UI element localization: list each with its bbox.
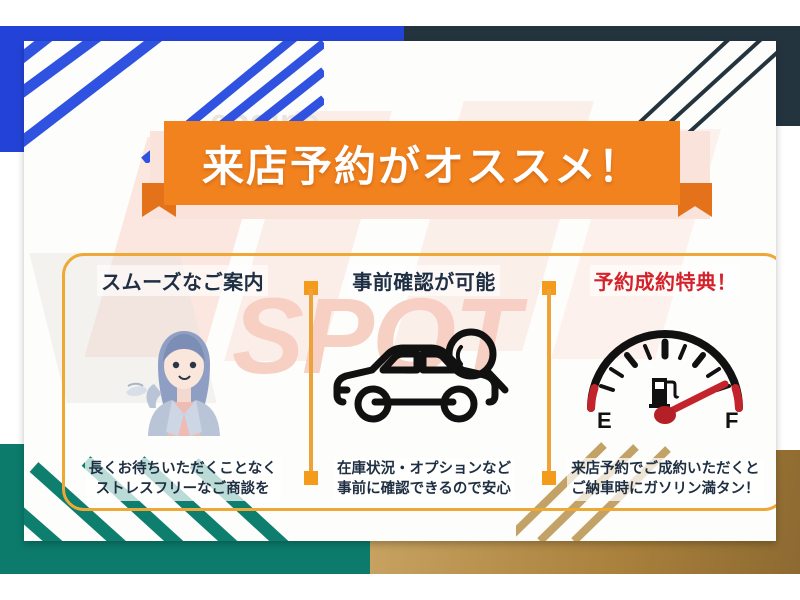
feature-body: 長くお待ちいただくことなく ストレスフリーなご商談を <box>85 458 281 501</box>
gauge-label-empty: E <box>597 408 612 432</box>
divider-bar <box>547 289 551 477</box>
banner-card: engine SPOT <box>24 41 776 541</box>
feature-column-bonus: 予約成約特典！ <box>545 253 776 511</box>
divider-bar <box>309 289 313 477</box>
page-title: 来店予約がオススメ！ <box>142 121 702 205</box>
feature-body-line2: ご納車時にガソリン満タン！ <box>571 479 760 500</box>
feature-body-line1: 来店予約でご成約いただくと <box>571 459 760 480</box>
feature-body: 在庫状況・オプションなど 事前に確認できるので安心 <box>333 458 515 501</box>
feature-body: 来店予約でご成約いただくと ご納車時にガソリン満タン！ <box>567 458 764 501</box>
feature-body-line2: ストレスフリーなご商談を <box>89 479 277 500</box>
feature-title: 事前確認が可能 <box>348 265 500 296</box>
promo-banner: engine SPOT <box>0 26 800 574</box>
headline-ribbon: 来店予約がオススメ！ <box>142 121 712 221</box>
column-divider-2 <box>542 277 556 489</box>
divider-cap-bottom <box>542 471 556 485</box>
feature-column-precheck: 事前確認が可能 <box>303 253 544 511</box>
gauge-label-full: F <box>725 408 738 432</box>
feature-body-line1: 長くお待ちいただくことなく <box>89 459 277 480</box>
screenshot-stage: engine SPOT <box>0 0 800 600</box>
fuel-gauge-icon: E F <box>575 322 755 432</box>
fuel-gauge-illustration: E F <box>551 296 776 458</box>
fuel-pump-glyph <box>649 378 678 408</box>
feature-column-smooth: スムーズなご案内 <box>62 253 303 511</box>
car-check-illustration <box>309 296 538 458</box>
feature-title: スムーズなご案内 <box>97 265 268 296</box>
features-columns: スムーズなご案内 <box>62 253 776 511</box>
car-with-magnifier-icon <box>331 324 517 430</box>
column-divider-1 <box>304 277 318 489</box>
feature-body-line2: 事前に確認できるので安心 <box>337 479 511 500</box>
feature-title: 予約成約特典！ <box>590 265 742 296</box>
feature-body-line1: 在庫状況・オプションなど <box>337 459 511 480</box>
divider-cap-bottom <box>304 471 318 485</box>
female-staff-icon <box>108 318 258 436</box>
staff-illustration <box>68 296 297 458</box>
